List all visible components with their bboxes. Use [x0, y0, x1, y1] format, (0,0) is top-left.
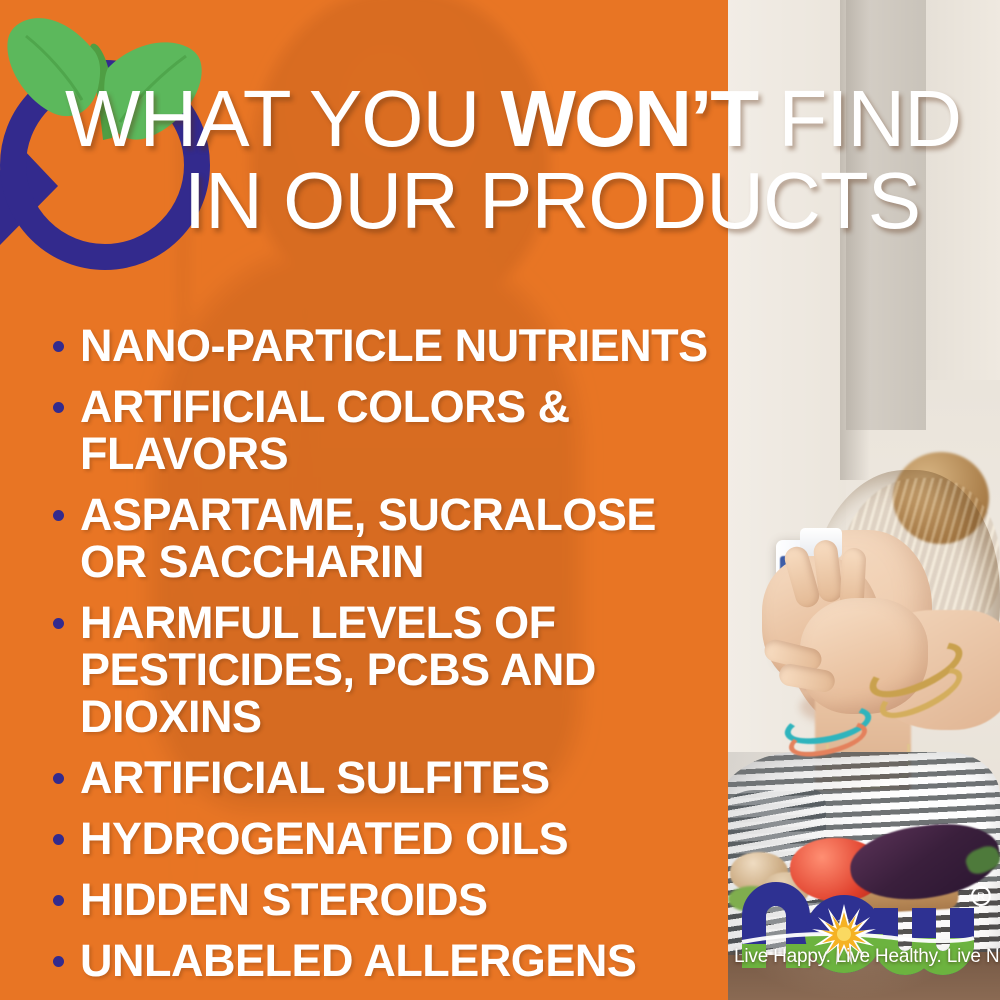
list-item-line: HIDDEN STEROIDS [80, 876, 728, 923]
page-title: WHAT YOU WON’T FIND IN OUR PRODUCTS [0, 78, 1000, 242]
headline-emphasis: WON’T [501, 74, 758, 163]
list-item-line: HYDROGENATED OILS [80, 815, 728, 862]
list-item: HARMFUL LEVELS OF PESTICIDES, PCBS AND D… [48, 599, 728, 740]
list-item: UNLABELED ALLERGENS [48, 937, 728, 984]
brand-tagline: Live Happy. Live Healthy. Live NOW. [734, 946, 996, 968]
list-item: ARTIFICIAL SULFITES [48, 754, 728, 801]
list-item-line: NANO-PARTICLE NUTRIENTS [80, 322, 728, 369]
list-item-line: ARTIFICIAL SULFITES [80, 754, 728, 801]
list-item: ARTIFICIAL COLORS & FLAVORS [48, 383, 728, 477]
registered-glyph: R [977, 891, 985, 903]
list-item: ASPARTAME, SUCRALOSE OR SACCHARIN [48, 491, 728, 585]
headline-line-1: WHAT YOU WON’T FIND [0, 78, 1000, 160]
list-item-line: PESTICIDES, PCBS AND DIOXINS [80, 646, 728, 740]
excluded-ingredients-list: NANO-PARTICLE NUTRIENTS ARTIFICIAL COLOR… [48, 322, 728, 998]
list-item-line: HARMFUL LEVELS OF [80, 599, 728, 646]
list-item-line: UNLABELED ALLERGENS [80, 937, 728, 984]
list-item: NANO-PARTICLE NUTRIENTS [48, 322, 728, 369]
list-item-line: ARTIFICIAL COLORS & FLAVORS [80, 383, 728, 477]
list-item-line: OR SACCHARIN [80, 538, 728, 585]
list-item: HYDROGENATED OILS [48, 815, 728, 862]
now-logo: R [734, 866, 996, 986]
headline-suffix: FIND [757, 74, 961, 163]
list-item: HIDDEN STEROIDS [48, 876, 728, 923]
promo-poster: WHAT YOU WON’T FIND IN OUR PRODUCTS NANO… [0, 0, 1000, 1000]
headline-prefix: WHAT YOU [65, 74, 501, 163]
registered-trademark-icon: R [972, 887, 990, 905]
list-item-line: ASPARTAME, SUCRALOSE [80, 491, 728, 538]
headline-line-2: IN OUR PRODUCTS [0, 160, 1000, 242]
